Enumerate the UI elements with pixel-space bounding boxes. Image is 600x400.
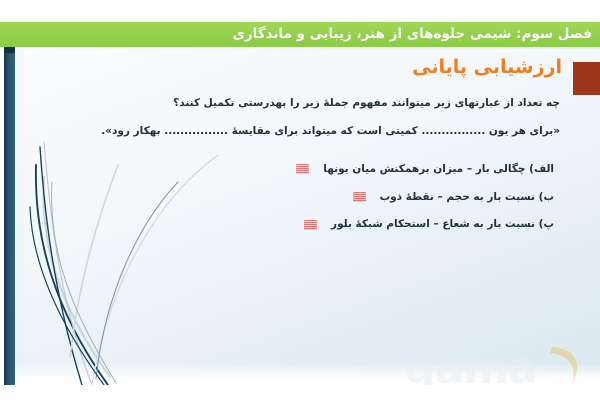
option-row: ب) نسبت بار به حجم – نقطۀ ذوب [296, 190, 554, 205]
option-bullet-icon [353, 192, 366, 202]
option-row: پ) نسبت بار به شعاع – استحکام شبکۀ بلور [296, 217, 554, 232]
left-accent-bar-cap [4, 47, 15, 53]
title-accent-block [573, 62, 600, 95]
question-block: چه تعداد از عبارتهای زیر میتوانند مفهوم … [200, 96, 560, 140]
option-row: الف) چگالی بار – میزان برهمکنش میان یونه… [296, 162, 554, 177]
slide-canvas: فصل سوم: شیمی جلوه‌های از هنر، زیبایی و … [0, 0, 600, 400]
question-line-2: «برای هر یون ................ کمیتی است … [200, 124, 560, 140]
option-label: الف) چگالی بار – میزان برهمکنش میان یونه… [323, 162, 554, 177]
option-bullet-icon [304, 220, 317, 230]
chapter-header-text: فصل سوم: شیمی جلوه‌های از هنر، زیبایی و … [233, 22, 593, 47]
left-accent-bar [4, 47, 15, 385]
bottom-white-strip [0, 385, 600, 400]
page-title: ارزشیابی پایانی [412, 56, 562, 78]
chapter-header-bar: فصل سوم: شیمی جلوه‌های از هنر، زیبایی و … [0, 22, 600, 47]
option-label: ب) نسبت بار به حجم – نقطۀ ذوب [380, 190, 554, 205]
option-bullet-icon [296, 164, 309, 174]
options-list: الف) چگالی بار – میزان برهمکنش میان یونه… [296, 162, 554, 245]
option-label: پ) نسبت بار به شعاع – استحکام شبکۀ بلور [331, 217, 554, 232]
question-line-1: چه تعداد از عبارتهای زیر میتوانند مفهوم … [200, 96, 560, 112]
panel-bottom-fade [10, 363, 600, 385]
top-white-strip [0, 0, 600, 22]
